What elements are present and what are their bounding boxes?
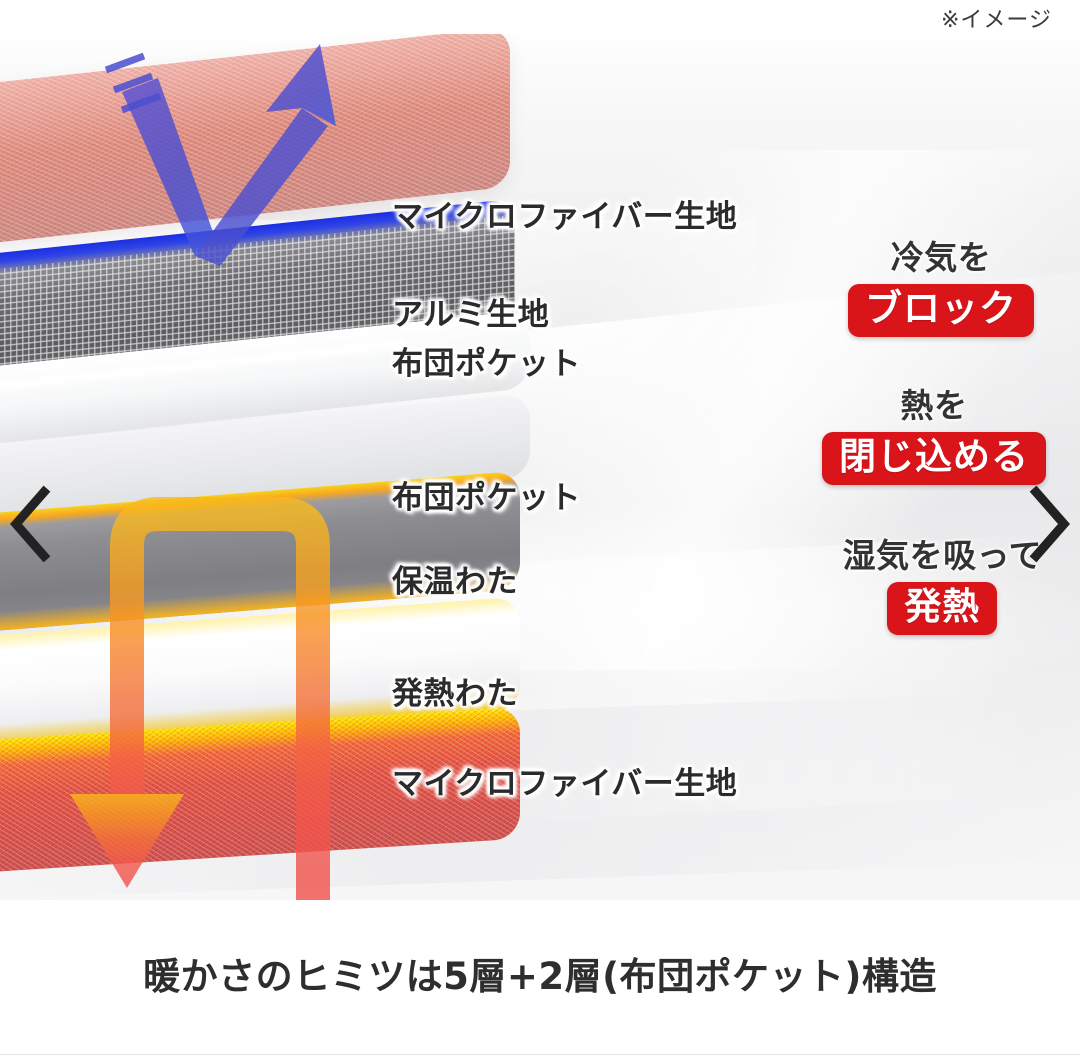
layer-label-pocket-upper: 布団ポケット [392, 338, 581, 383]
benefit-badge: 閉じ込める [822, 432, 1046, 485]
layer-label-microfiber-bottom: マイクロファイバー生地 [392, 758, 737, 803]
layer-label-heat-generating: 発熱わた [392, 668, 518, 713]
bottom-divider [0, 1054, 1080, 1055]
structure-caption: 暖かさのヒミツは5層+2層(布団ポケット)構造 [0, 946, 1080, 1000]
benefit-block-cold: 冷気を ブロック [848, 240, 1034, 337]
benefit-block-moisture: 湿気を吸って 発熱 [843, 538, 1042, 635]
caption-area: 暖かさのヒミツは5層+2層(布団ポケット)構造 [0, 900, 1080, 1055]
benefit-badge: ブロック [848, 284, 1034, 337]
benefit-block-heat: 熱を 閉じ込める [822, 388, 1046, 485]
carousel-prev-button[interactable] [2, 478, 62, 570]
image-disclaimer-note: ※イメージ [941, 2, 1052, 34]
layer-label-aluminium: アルミ生地 [392, 289, 549, 334]
product-feature-card: ※イメージ [0, 0, 1080, 1060]
layer-label-microfiber-top: マイクロファイバー生地 [392, 191, 737, 236]
chevron-right-icon[interactable] [1018, 478, 1078, 570]
benefit-caption: 熱を [822, 388, 1046, 425]
layer-label-pocket-lower: 布団ポケット [392, 472, 581, 517]
top-note-band: ※イメージ [0, 0, 1080, 34]
chevron-left-icon[interactable] [2, 478, 62, 570]
benefit-caption: 冷気を [848, 240, 1034, 277]
benefit-caption: 湿気を吸って [843, 538, 1042, 575]
cold-air-arrow-icon [70, 34, 400, 324]
layer-structure-illustration: マイクロファイバー生地 アルミ生地 布団ポケット 布団ポケット 保温わた 発熱わ… [0, 28, 1080, 900]
heat-flow-arrow-icon [60, 476, 390, 900]
carousel-next-button[interactable] [1018, 478, 1078, 570]
benefit-badge: 発熱 [887, 582, 997, 635]
layer-label-insulation: 保温わた [392, 556, 518, 601]
